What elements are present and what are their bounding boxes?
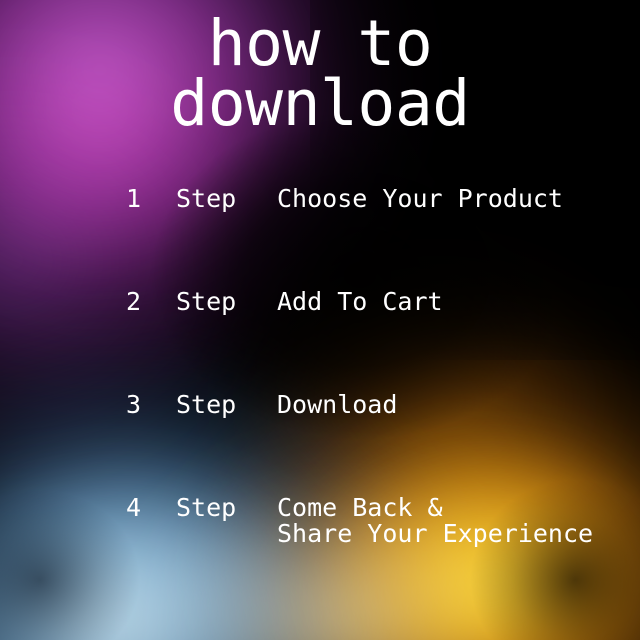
steps-list: 1 Step Choose Your Product 2 Step Add To…	[0, 186, 640, 598]
step-label: Step	[176, 392, 236, 418]
promo-poster: how to download 1 Step Choose Your Produ…	[0, 0, 640, 640]
page-title-line-1: how to	[0, 14, 640, 74]
step-description-line-1: Download	[277, 392, 397, 418]
step-item-2: 2 Step Add To Cart	[0, 289, 640, 392]
step-label: Step	[176, 186, 236, 212]
step-label: Step	[176, 289, 236, 315]
step-number: 4	[126, 495, 141, 521]
step-description-line-2: Share Your Experience	[277, 521, 593, 547]
poster-content: how to download 1 Step Choose Your Produ…	[0, 0, 640, 640]
step-number: 2	[126, 289, 141, 315]
step-number: 1	[126, 186, 141, 212]
step-description-line-1: Choose Your Product	[277, 186, 563, 212]
step-label: Step	[176, 495, 236, 521]
page-title: how to download	[0, 14, 640, 134]
page-title-line-2: download	[0, 74, 640, 134]
step-item-3: 3 Step Download	[0, 392, 640, 495]
step-description: Come Back & Share Your Experience	[277, 495, 593, 547]
step-item-4: 4 Step Come Back & Share Your Experience	[0, 495, 640, 598]
step-description: Add To Cart	[277, 289, 443, 315]
step-item-1: 1 Step Choose Your Product	[0, 186, 640, 289]
step-description: Download	[277, 392, 397, 418]
step-description-line-1: Come Back &	[277, 495, 593, 521]
step-number: 3	[126, 392, 141, 418]
step-description-line-1: Add To Cart	[277, 289, 443, 315]
step-description: Choose Your Product	[277, 186, 563, 212]
